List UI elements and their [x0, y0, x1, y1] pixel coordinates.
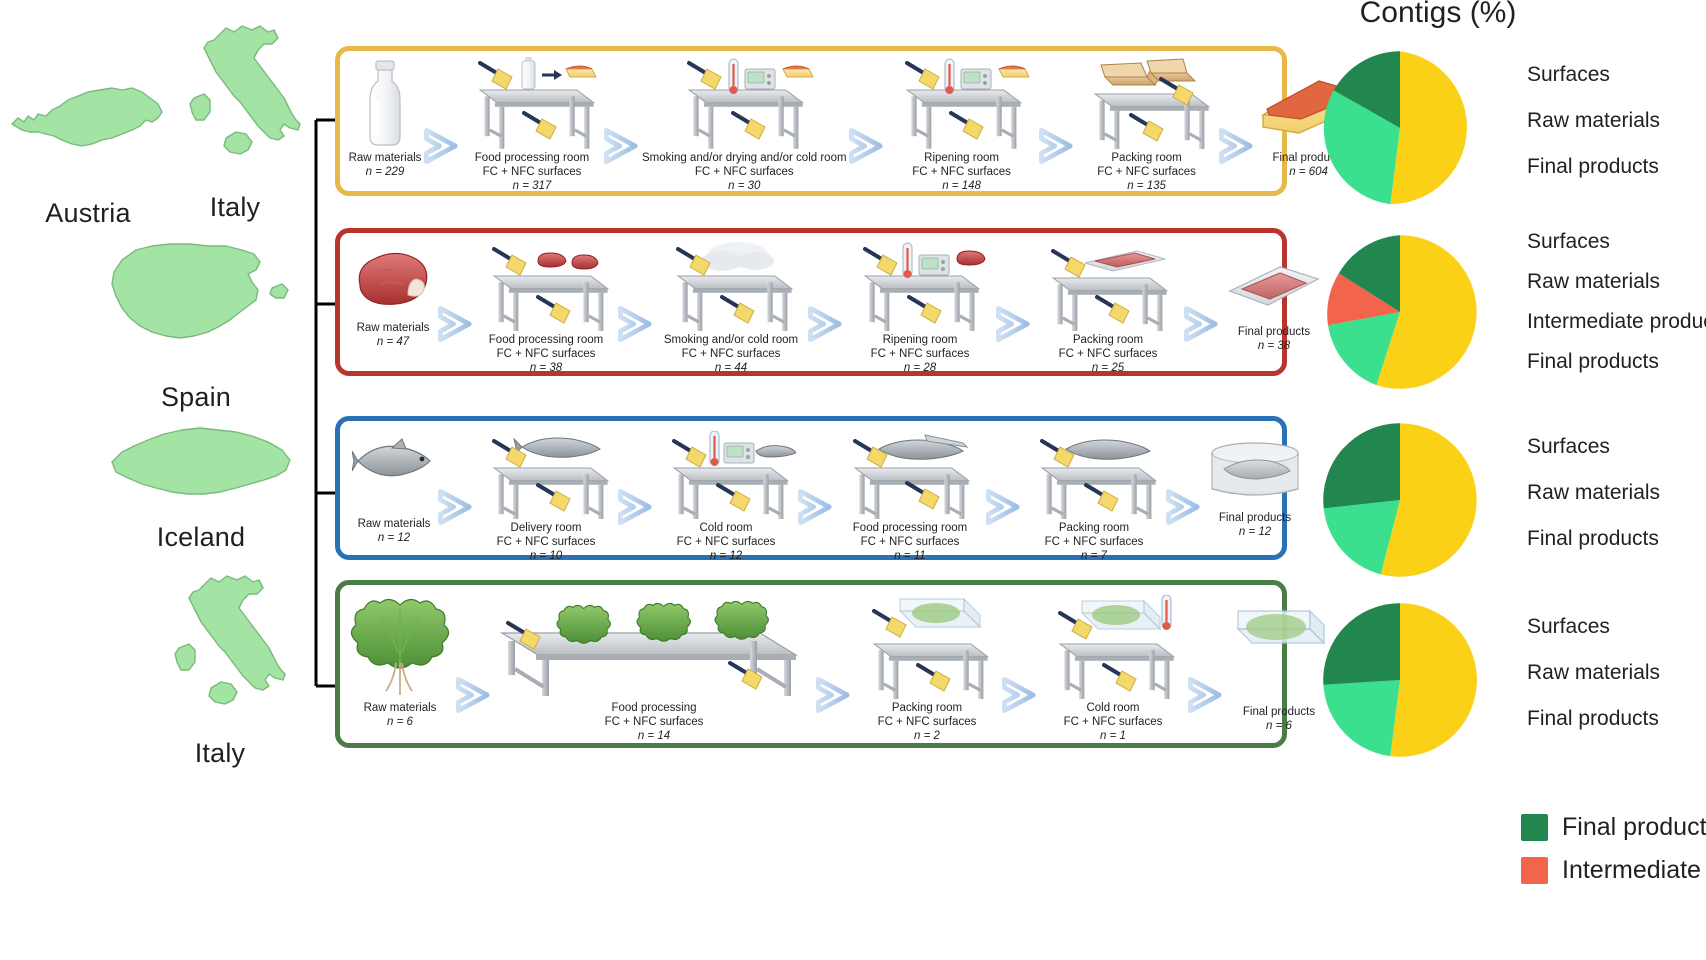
pie-label: Raw materials [1527, 470, 1660, 516]
chevron-arrow-icon [796, 489, 836, 525]
italy-map-icon [140, 570, 300, 730]
country-block-iceland: Iceland [96, 418, 316, 551]
country-block-austria: Austria [8, 60, 168, 227]
step-label: Smoking and/or cold room FC + NFC surfac… [664, 333, 798, 375]
pie-chart-vegetable [1320, 600, 1480, 760]
step-label: Food processing room FC + NFC surfaces n… [853, 521, 967, 563]
step-label: Raw materials n = 12 [358, 517, 431, 545]
pie-legend: Final products Intermediate products [1521, 812, 1706, 898]
chevron-arrow-icon [1182, 306, 1222, 342]
chain-step: Cold room FC + NFC surfaces n = 1 [1040, 595, 1186, 743]
country-label-iceland: Iceland [96, 524, 306, 551]
fish-processing-table-icon [835, 431, 985, 519]
pie-svg [1320, 48, 1480, 208]
ripening-room-table-icon [887, 57, 1037, 149]
chain-step: Packing room FC + NFC surfaces n = 2 [854, 595, 1000, 743]
legend-label: Intermediate products [1562, 858, 1706, 883]
pie-chart-fish [1320, 420, 1480, 580]
pie-side-labels-dairy: Surfaces Raw materials Final products [1527, 52, 1660, 190]
pie-label: Surfaces [1527, 222, 1706, 262]
spain-map-icon [96, 232, 296, 362]
meat-ripening-table-icon [845, 241, 995, 331]
chain-step: Packing room FC + NFC surfaces n = 135 [1077, 57, 1217, 193]
pie-label: Final products [1527, 516, 1660, 562]
chain-panel-meat: Raw materials n = 47 Food processing roo… [335, 228, 1287, 376]
chain-step: Raw materials n = 47 [350, 241, 436, 349]
country-block-italy-bottom: Italy [140, 570, 320, 767]
figure-root: Austria Italy Spain Iceland [0, 0, 1706, 960]
chain-step: Food processing room FC + NFC surfaces n… [476, 241, 616, 375]
pie-label: Surfaces [1527, 424, 1660, 470]
step-label: Packing room FC + NFC surfaces n = 25 [1059, 333, 1158, 375]
countries-column: Austria Italy Spain Iceland [0, 0, 312, 800]
pie-label: Final products [1527, 144, 1660, 190]
legend-label: Final products [1562, 815, 1706, 840]
pie-svg [1320, 600, 1480, 760]
chain-step: Raw materials n = 12 [352, 431, 436, 545]
pie-label: Surfaces [1527, 52, 1660, 98]
chain-step: Raw materials n = 6 [346, 595, 454, 729]
pie-label: Raw materials [1527, 650, 1660, 696]
chain-step: Packing room FC + NFC surfaces n = 7 [1024, 431, 1164, 563]
legend-item-final-products: Final products [1521, 812, 1706, 842]
chevron-arrow-icon [1186, 677, 1226, 713]
pie-slice-raw-materials [1323, 680, 1400, 756]
chain-step: Final products n = 38 [1222, 241, 1326, 353]
chevron-arrow-icon [436, 489, 476, 525]
chevron-arrow-icon [984, 489, 1024, 525]
lettuce-icon [346, 595, 454, 699]
pie-label: Surfaces [1527, 604, 1660, 650]
packing-room-table-icon [1077, 57, 1217, 149]
country-label-spain: Spain [96, 384, 296, 411]
pie-slice-final-products [1323, 423, 1400, 508]
chain-step: Smoking and/or cold room FC + NFC surfac… [656, 241, 806, 375]
chain-step: Cold room FC + NFC surfaces n = 12 [656, 431, 796, 563]
chevron-arrow-icon [847, 128, 887, 164]
pie-svg [1320, 420, 1480, 580]
chain-panel-vegetable: Raw materials n = 6 [335, 580, 1287, 748]
step-label: Raw materials n = 6 [364, 701, 437, 729]
chevron-arrow-icon [1000, 677, 1040, 713]
country-label-italy-top: Italy [160, 194, 310, 221]
packed-salad-icon [1226, 595, 1332, 695]
step-label: Packing room FC + NFC surfaces n = 135 [1097, 151, 1196, 193]
chain-step: Packing room FC + NFC surfaces n = 25 [1034, 241, 1182, 375]
smoking-room-table-icon [669, 57, 819, 149]
italy-map-icon [160, 20, 310, 180]
step-label: Raw materials n = 229 [349, 151, 422, 179]
meat-processing-table-icon [476, 241, 616, 331]
chevron-arrow-icon [994, 306, 1034, 342]
pie-label: Raw materials [1527, 262, 1706, 302]
pie-svg [1320, 232, 1480, 392]
processing-table-icon [462, 57, 602, 149]
step-label: Delivery room FC + NFC surfaces n = 10 [497, 521, 596, 563]
chevron-arrow-icon [814, 677, 854, 713]
chevron-arrow-icon [436, 306, 476, 342]
chevron-arrow-icon [422, 128, 462, 164]
chevron-arrow-icon [616, 306, 656, 342]
legend-item-intermediate-products: Intermediate products [1521, 855, 1706, 885]
packed-fish-icon [1204, 431, 1306, 509]
step-label: Smoking and/or drying and/or cold room F… [642, 151, 847, 193]
chain-step: Smoking and/or drying and/or cold room F… [642, 57, 847, 193]
pie-slice-final-products [1323, 603, 1400, 685]
chevron-arrow-icon [602, 128, 642, 164]
step-label: Food processing FC + NFC surfaces n = 14 [605, 701, 704, 743]
chevron-arrow-icon [616, 489, 656, 525]
pie-chart-dairy [1320, 48, 1480, 208]
step-label: Cold room FC + NFC surfaces n = 12 [677, 521, 776, 563]
country-block-spain: Spain [96, 232, 316, 411]
long-processing-bench-icon [494, 595, 814, 699]
step-label: Cold room FC + NFC surfaces n = 1 [1064, 701, 1163, 743]
chain-step: Final products n = 6 [1226, 595, 1332, 733]
meat-packing-table-icon [1033, 241, 1183, 331]
step-label: Ripening room FC + NFC surfaces n = 28 [871, 333, 970, 375]
step-label: Packing room FC + NFC surfaces n = 2 [878, 701, 977, 743]
pie-label: Final products [1527, 342, 1706, 382]
chain-panel-fish: Raw materials n = 12 Delivery room FC + … [335, 416, 1287, 560]
chain-step: Ripening room FC + NFC surfaces n = 28 [846, 241, 994, 375]
chevron-arrow-icon [1037, 128, 1077, 164]
lettuce-cold-room-table-icon [1040, 595, 1186, 699]
fish-icon [352, 431, 436, 491]
pie-label: Intermediate products [1527, 302, 1706, 342]
legend-swatch-final-products [1521, 814, 1548, 841]
step-label: Food processing room FC + NFC surfaces n… [475, 151, 589, 193]
chevron-arrow-icon [454, 677, 494, 713]
delivery-room-table-icon [476, 431, 616, 519]
pie-slice-surfaces [1390, 603, 1477, 757]
country-block-italy-top: Italy [160, 20, 310, 221]
cold-room-table-icon [656, 431, 796, 519]
pie-chart-meat [1320, 232, 1480, 392]
chain-step: Raw materials n = 229 [348, 57, 422, 179]
chevron-arrow-icon [1217, 128, 1257, 164]
pie-slice-surfaces [1390, 51, 1467, 204]
chevron-arrow-icon [1164, 489, 1204, 525]
pies-title: Contigs (%) [1318, 0, 1558, 30]
chain-step: Food processing room FC + NFC surfaces n… [836, 431, 984, 563]
chain-step: Final products n = 12 [1204, 431, 1306, 539]
chain-step: Delivery room FC + NFC surfaces n = 10 [476, 431, 616, 563]
milk-bottle-icon [348, 57, 422, 149]
step-label: Raw materials n = 47 [357, 321, 430, 349]
lettuce-packing-table-icon [854, 595, 1000, 699]
step-label: Final products n = 38 [1238, 325, 1310, 353]
raw-meat-icon [350, 241, 436, 319]
pie-side-labels-vegetable: Surfaces Raw materials Final products [1527, 604, 1660, 742]
austria-map-icon [8, 60, 168, 170]
pie-label: Raw materials [1527, 98, 1660, 144]
legend-swatch-intermediate-products [1521, 857, 1548, 884]
pie-label: Final products [1527, 696, 1660, 742]
iceland-map-icon [96, 418, 306, 508]
step-label: Final products n = 6 [1243, 705, 1315, 733]
chain-step: Ripening room FC + NFC surfaces n = 148 [887, 57, 1037, 193]
chevron-arrow-icon [806, 306, 846, 342]
smoking-cold-room-table-icon [656, 241, 806, 331]
chain-step: Food processing FC + NFC surfaces n = 14 [494, 595, 814, 743]
country-label-austria: Austria [8, 200, 168, 227]
chain-panel-dairy: Raw materials n = 229 [335, 46, 1287, 196]
pie-side-labels-fish: Surfaces Raw materials Final products [1527, 424, 1660, 562]
step-label: Final products n = 12 [1219, 511, 1291, 539]
step-label: Ripening room FC + NFC surfaces n = 148 [912, 151, 1011, 193]
fish-packing-table-icon [1024, 431, 1164, 519]
pie-side-labels-meat: Surfaces Raw materials Intermediate prod… [1527, 222, 1706, 382]
country-label-italy-bottom: Italy [140, 740, 300, 767]
step-label: Packing room FC + NFC surfaces n = 7 [1045, 521, 1144, 563]
chain-step: Food processing room FC + NFC surfaces n… [462, 57, 602, 193]
packed-meat-icon [1222, 241, 1326, 323]
step-label: Food processing room FC + NFC surfaces n… [489, 333, 603, 375]
